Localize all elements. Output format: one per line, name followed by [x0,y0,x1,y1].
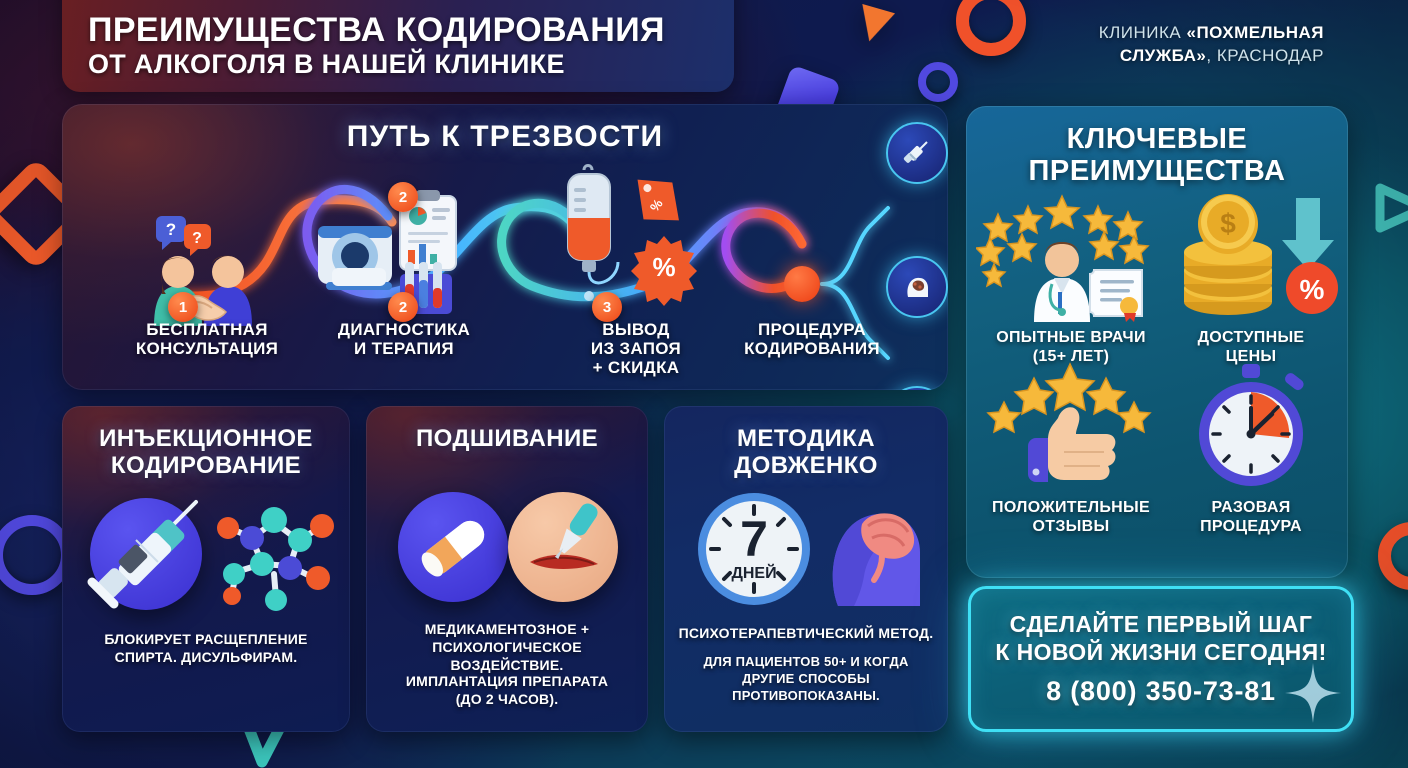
svg-text:%: % [1300,274,1325,305]
svg-text:?: ? [192,230,202,247]
sparkle-icon [1285,663,1341,723]
step-2-number-badge: 2 [388,292,418,322]
method-c-desc1: ПСИХОТЕРАПЕВТИЧЕСКИЙ МЕТОД. [676,624,936,642]
benefit-item-doctors: ОПЫТНЫЕ ВРАЧИ(15+ ЛЕТ) [976,192,1166,367]
coins-discount-icon: $ % [1156,192,1346,322]
infographic-canvas: ПРЕИМУЩЕСТВА КОДИРОВАНИЯ ОТ АЛКОГОЛЯ В Н… [0,0,1408,768]
step-1-label: БЕСПЛАТНАЯКОНСУЛЬТАЦИЯ [102,320,312,358]
step-3-illustration: % % [548,162,708,320]
cta-panel[interactable]: СДЕЛАЙТЕ ПЕРВЫЙ ШАГК НОВОЙ ЖИЗНИ СЕГОДНЯ… [968,586,1354,732]
syringe-icon [84,488,214,618]
skin-incision-icon [508,492,618,602]
benefit-item-single-procedure: РАЗОВАЯПРОЦЕДУРА [1156,362,1346,537]
benefit-item-reviews: ПОЛОЖИТЕЛЬНЫЕОТЗЫВЫ [976,362,1166,537]
syringe-icon [901,137,933,169]
cta-headline: СДЕЛАЙТЕ ПЕРВЫЙ ШАГК НОВОЙ ЖИЗНИ СЕГОДНЯ… [971,611,1351,666]
clock-number: 7 [740,511,768,567]
page-title-line2: ОТ АЛКОГОЛЯ В НАШЕЙ КЛИНИКЕ [88,50,734,80]
molecule-icon [210,498,340,618]
page-title-panel: ПРЕИМУЩЕСТВА КОДИРОВАНИЯ ОТ АЛКОГОЛЯ В Н… [62,0,734,92]
step-3-label: ВЫВОДИЗ ЗАПОЯ+ СКИДКА [556,320,716,377]
step-1-number-badge: 1 [168,292,198,322]
step-4-label: ПРОЦЕДУРАКОДИРОВАНИЯ [722,320,902,358]
page-title-line1: ПРЕИМУЩЕСТВА КОДИРОВАНИЯ [88,13,734,48]
head-brain-icon [816,490,934,608]
coding-hub-node [784,266,820,302]
svg-text:$: $ [1220,208,1236,239]
method-c-title: МЕТОДИКАДОВЖЕНКО [664,426,948,480]
method-b-desc1: МЕДИКАМЕНТОЗНОЕ +ПСИХОЛОГИЧЕСКОЕ ВОЗДЕЙС… [378,620,636,675]
method-card-dovzhenko: МЕТОДИКАДОВЖЕНКО 7 ДНЕЙ ПСИХОТЕРАПЕВТИЧЕ… [664,406,948,732]
benefit-label-single-procedure: РАЗОВАЯПРОЦЕДУРА [1156,499,1346,537]
step-2-label: ДИАГНОСТИКАИ ТЕРАПИЯ [314,320,494,358]
method-card-injection: ИНЪЕКЦИОННОЕКОДИРОВАНИЕ [62,406,350,732]
method-b-title: ПОДШИВАНИЕ [366,426,648,453]
clinic-prefix: КЛИНИКА [1099,23,1187,42]
outcome-node-syringe[interactable] [886,122,948,184]
svg-text:%: % [652,252,675,282]
stopwatch-icon [1156,362,1346,492]
method-a-title: ИНЪЕКЦИОННОЕКОДИРОВАНИЕ [62,426,350,480]
clock-unit: ДНЕЙ [731,563,776,582]
svg-text:?: ? [166,220,176,239]
outcome-node-head-brain[interactable] [886,256,948,318]
benefit-item-prices: $ % ДОСТУПНЫЕЦЕНЫ [1156,192,1346,367]
doctor-certificate-stars-icon [976,192,1166,322]
clock-7-days-icon: 7 ДНЕЙ [694,490,814,608]
method-card-implant: ПОДШИВАНИЕ МЕДИКАМЕНТОЗНОЕ +ПСИХОЛОГИЧЕС… [366,406,648,732]
method-b-desc2: ИМПЛАНТАЦИЯ ПРЕПАРАТА(ДО 2 ЧАСОВ). [378,672,636,708]
clinic-name: КЛИНИКА «ПОХМЕЛЬНАЯ СЛУЖБА», КРАСНОДАР [1024,22,1324,68]
step-2-number-badge-top: 2 [388,182,418,212]
clinic-city: , КРАСНОДАР [1206,46,1324,65]
key-benefits-panel: КЛЮЧЕВЫЕПРЕИМУЩЕСТВА [966,106,1348,578]
journey-panel: ПУТЬ К ТРЕЗВОСТИ [62,104,948,390]
thumbs-up-stars-icon [976,362,1166,492]
capsule-pill-icon [398,492,508,602]
method-a-desc: БЛОКИРУЕТ РАСЩЕПЛЕНИЕСПИРТА. ДИСУЛЬФИРАМ… [74,630,338,666]
step-1-illustration: ? ? [138,216,268,326]
step-3-number-badge: 3 [592,292,622,322]
head-brain-icon [901,271,933,303]
benefit-label-reviews: ПОЛОЖИТЕЛЬНЫЕОТЗЫВЫ [976,499,1166,537]
benefits-title: КЛЮЧЕВЫЕПРЕИМУЩЕСТВА [966,124,1348,188]
method-c-desc2: ДЛЯ ПАЦИЕНТОВ 50+ И КОГДАДРУГИЕ СПОСОБЫП… [676,654,936,705]
